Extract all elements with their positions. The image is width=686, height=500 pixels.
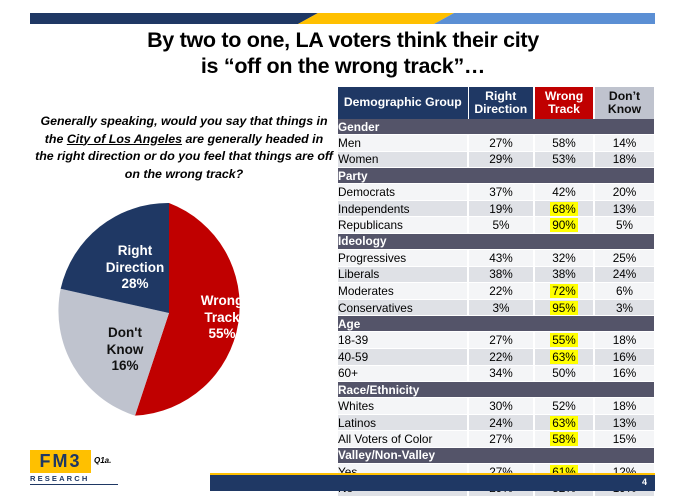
question-underlined-phrase: City of Los Angeles xyxy=(67,132,182,146)
table-cell-dont-know: 24% xyxy=(594,266,654,283)
table-header-wrong-track: Wrong Track xyxy=(534,87,594,119)
table-cell-wrong-track: 58% xyxy=(534,431,594,448)
table-row: 40-5922%63%16% xyxy=(338,348,654,365)
table-cell-dont-know: 18% xyxy=(594,398,654,415)
table-cell-wrong-track: 53% xyxy=(534,151,594,168)
question-number-note: Q1a. xyxy=(94,456,111,465)
table-cell-demographic-label: Independents xyxy=(338,200,468,217)
table-row: Whites30%52%18% xyxy=(338,398,654,415)
table-cell-demographic-label: Liberals xyxy=(338,266,468,283)
table-cell-dont-know: 13% xyxy=(594,200,654,217)
table-cell-right-direction: 29% xyxy=(468,151,534,168)
table-cell-demographic-label: All Voters of Color xyxy=(338,431,468,448)
table-cell-demographic-label: Moderates xyxy=(338,283,468,300)
table-group-header-label: Party xyxy=(338,168,654,184)
table-group-header-row: Age xyxy=(338,316,654,332)
table-cell-right-direction: 24% xyxy=(468,414,534,431)
table-cell-dont-know: 25% xyxy=(594,249,654,266)
table-cell-wrong-track: 95% xyxy=(534,299,594,316)
table-cell-wrong-track: 63% xyxy=(534,414,594,431)
footer-bar: 4 xyxy=(210,473,655,491)
table-cell-wrong-track: 50% xyxy=(534,365,594,382)
table-cell-dont-know: 6% xyxy=(594,283,654,300)
header-wrong-track-line1: Wrong xyxy=(545,89,583,103)
highlighted-value: 63% xyxy=(550,416,578,430)
table-cell-demographic-label: Women xyxy=(338,151,468,168)
table-group-header-row: Party xyxy=(338,168,654,184)
table-group-header-row: Gender xyxy=(338,119,654,135)
table-cell-wrong-track: 55% xyxy=(534,332,594,349)
highlighted-value: 63% xyxy=(550,350,578,364)
table-body: GenderMen27%58%14%Women29%53%18%PartyDem… xyxy=(338,119,654,497)
table-cell-right-direction: 27% xyxy=(468,431,534,448)
table-cell-right-direction: 43% xyxy=(468,249,534,266)
table-header: Demographic Group Right Direction Wrong … xyxy=(338,87,654,119)
highlighted-value: 72% xyxy=(550,284,578,298)
table-cell-dont-know: 18% xyxy=(594,332,654,349)
table-cell-dont-know: 14% xyxy=(594,135,654,152)
table-cell-wrong-track: 72% xyxy=(534,283,594,300)
table-cell-wrong-track: 68% xyxy=(534,200,594,217)
table-group-header-label: Gender xyxy=(338,119,654,135)
top-decorative-banner xyxy=(30,11,655,22)
table-cell-right-direction: 22% xyxy=(468,348,534,365)
header-wrong-track-line2: Track xyxy=(548,102,580,116)
table-cell-wrong-track: 52% xyxy=(534,398,594,415)
table-cell-dont-know: 16% xyxy=(594,365,654,382)
highlighted-value: 58% xyxy=(550,432,578,446)
logo-fm3-text: FM3 xyxy=(30,450,91,473)
table-cell-dont-know: 18% xyxy=(594,151,654,168)
table-cell-right-direction: 19% xyxy=(468,200,534,217)
table-cell-demographic-label: 18-39 xyxy=(338,332,468,349)
logo-research-text: RESEARCH xyxy=(30,474,118,485)
table-row: Moderates22%72%6% xyxy=(338,283,654,300)
slide-title-line-2: is “off on the wrong track”… xyxy=(40,53,646,79)
table-row: Progressives43%32%25% xyxy=(338,249,654,266)
table-cell-wrong-track: 38% xyxy=(534,266,594,283)
highlighted-value: 55% xyxy=(550,333,578,347)
table-cell-wrong-track: 42% xyxy=(534,184,594,201)
header-right-direction-line2: Direction xyxy=(474,102,527,116)
table-row: Latinos24%63%13% xyxy=(338,414,654,431)
table-row: Women29%53%18% xyxy=(338,151,654,168)
table-cell-demographic-label: Men xyxy=(338,135,468,152)
table-cell-right-direction: 27% xyxy=(468,135,534,152)
table-cell-demographic-label: 60+ xyxy=(338,365,468,382)
table-header-demographic-group: Demographic Group xyxy=(338,87,468,119)
table-cell-wrong-track: 90% xyxy=(534,217,594,234)
table-cell-demographic-label: 40-59 xyxy=(338,348,468,365)
table-cell-demographic-label: Whites xyxy=(338,398,468,415)
table-header-dont-know: Don’t Know xyxy=(594,87,654,119)
table-group-header-label: Age xyxy=(338,316,654,332)
table-cell-dont-know: 15% xyxy=(594,431,654,448)
table-cell-dont-know: 5% xyxy=(594,217,654,234)
table-row: Liberals38%38%24% xyxy=(338,266,654,283)
table-header-row: Demographic Group Right Direction Wrong … xyxy=(338,87,654,119)
table-cell-demographic-label: Democrats xyxy=(338,184,468,201)
banner-navy-segment xyxy=(30,13,318,24)
highlighted-value: 90% xyxy=(550,218,578,232)
table-cell-dont-know: 16% xyxy=(594,348,654,365)
slide-title-line-1: By two to one, LA voters think their cit… xyxy=(40,27,646,53)
table-cell-wrong-track: 32% xyxy=(534,249,594,266)
table-cell-right-direction: 3% xyxy=(468,299,534,316)
table-row: Conservatives3%95%3% xyxy=(338,299,654,316)
table-cell-wrong-track: 63% xyxy=(534,348,594,365)
table-cell-right-direction: 27% xyxy=(468,332,534,349)
table-header-right-direction: Right Direction xyxy=(468,87,534,119)
table-cell-demographic-label: Republicans xyxy=(338,217,468,234)
table-cell-dont-know: 13% xyxy=(594,414,654,431)
survey-question-text: Generally speaking, would you say that t… xyxy=(34,113,334,183)
table-cell-right-direction: 5% xyxy=(468,217,534,234)
table-group-header-label: Ideology xyxy=(338,233,654,249)
highlighted-value: 68% xyxy=(550,202,578,216)
header-dont-know-line2: Know xyxy=(608,102,641,116)
table-row: 60+34%50%16% xyxy=(338,365,654,382)
table-cell-right-direction: 30% xyxy=(468,398,534,415)
table-row: Democrats37%42%20% xyxy=(338,184,654,201)
table-cell-dont-know: 20% xyxy=(594,184,654,201)
page-number: 4 xyxy=(642,477,647,487)
table-row: Men27%58%14% xyxy=(338,135,654,152)
direction-pie-chart: Right Direction 28% Don't Know 16% Wrong… xyxy=(57,201,281,425)
table-group-header-row: Race/Ethnicity xyxy=(338,382,654,398)
table-cell-dont-know: 3% xyxy=(594,299,654,316)
table-group-header-row: Valley/Non-Valley xyxy=(338,447,654,463)
table-group-header-label: Race/Ethnicity xyxy=(338,382,654,398)
header-right-direction-line1: Right xyxy=(485,89,516,103)
table-row: Independents19%68%13% xyxy=(338,200,654,217)
header-dont-know-line1: Don’t xyxy=(609,89,640,103)
table-cell-right-direction: 34% xyxy=(468,365,534,382)
banner-svg xyxy=(30,13,655,24)
table-group-header-label: Valley/Non-Valley xyxy=(338,447,654,463)
table-cell-demographic-label: Progressives xyxy=(338,249,468,266)
table-group-header-row: Ideology xyxy=(338,233,654,249)
table-cell-right-direction: 37% xyxy=(468,184,534,201)
table-cell-wrong-track: 58% xyxy=(534,135,594,152)
table-cell-demographic-label: Conservatives xyxy=(338,299,468,316)
table-row: All Voters of Color27%58%15% xyxy=(338,431,654,448)
banner-blue-segment xyxy=(434,13,655,24)
banner-yellow-segment xyxy=(298,13,454,24)
slide-title: By two to one, LA voters think their cit… xyxy=(40,27,646,79)
table-row: 18-3927%55%18% xyxy=(338,332,654,349)
table-cell-right-direction: 22% xyxy=(468,283,534,300)
table-row: Republicans5%90%5% xyxy=(338,217,654,234)
table-cell-demographic-label: Latinos xyxy=(338,414,468,431)
highlighted-value: 95% xyxy=(550,301,578,315)
demographic-crosstab-table: Demographic Group Right Direction Wrong … xyxy=(338,87,654,497)
table-cell-right-direction: 38% xyxy=(468,266,534,283)
pie-chart-svg xyxy=(57,201,281,425)
